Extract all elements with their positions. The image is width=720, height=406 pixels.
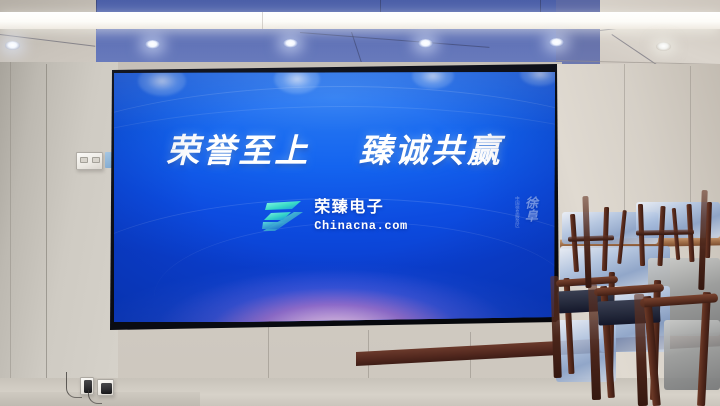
ceiling-panel-blue xyxy=(96,0,596,68)
downlight xyxy=(145,40,160,49)
linear-light-strip xyxy=(0,12,720,29)
ceiling-seam xyxy=(540,0,541,12)
light-switch-plate[interactable] xyxy=(76,152,103,170)
display-screen[interactable]: 荣誉至上 臻诚共赢 xyxy=(114,72,555,322)
conference-room-scene: 荣誉至上 臻诚共赢 xyxy=(0,0,720,406)
wall-left xyxy=(0,62,118,406)
chair-rail xyxy=(636,229,694,235)
downlight xyxy=(418,39,433,48)
downlight xyxy=(283,39,298,48)
power-cable xyxy=(66,372,82,398)
downlight xyxy=(549,38,564,47)
ceiling-seam xyxy=(380,0,381,12)
screen-vignette xyxy=(114,72,555,322)
wall-right-seam xyxy=(624,64,625,234)
light-strip-seam xyxy=(262,12,263,29)
downlight xyxy=(5,41,20,50)
led-display[interactable]: 荣誉至上 臻诚共赢 xyxy=(110,64,560,330)
wall-left-seam xyxy=(46,64,47,406)
wall-right-seam xyxy=(690,66,691,216)
plastic-wrapped-item xyxy=(664,320,720,390)
switch-rocker[interactable] xyxy=(92,157,100,163)
downlight xyxy=(656,42,671,51)
switch-rocker[interactable] xyxy=(80,157,88,163)
wall-left-seam xyxy=(10,62,11,406)
plug xyxy=(101,383,112,394)
